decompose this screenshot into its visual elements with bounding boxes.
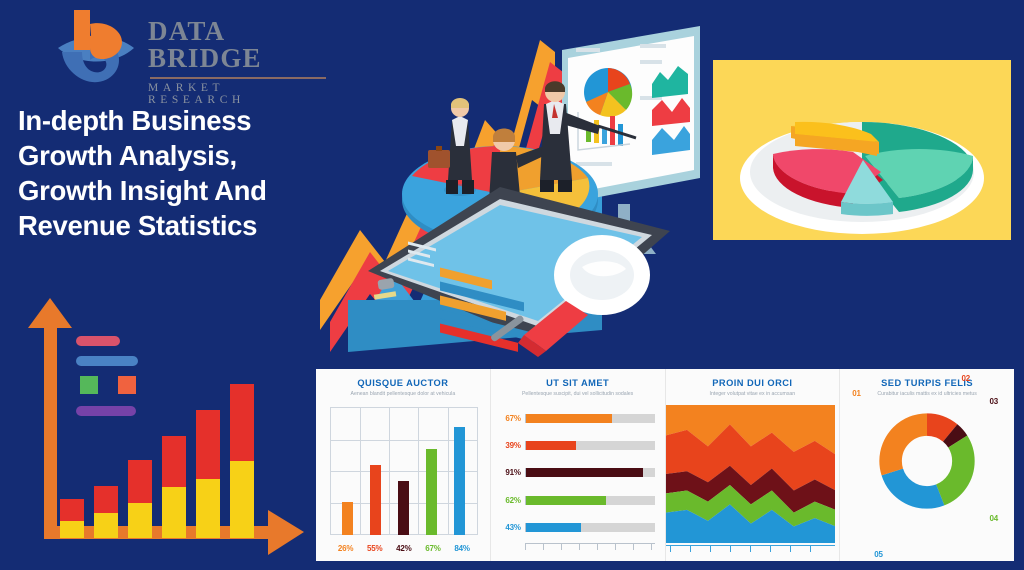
donut-chart-plot — [875, 409, 979, 513]
panel-1-subtitle: Aenean blandit pellentesque dolor at veh… — [322, 391, 484, 398]
panel-2-subtitle: Pellentesque suscipit, dui vel sollicitu… — [497, 391, 659, 398]
stacked-area-plot — [666, 405, 836, 543]
hbar-label-5: 43% — [499, 523, 525, 532]
tablet-and-magnifier — [350, 175, 690, 360]
bar-4 — [426, 449, 437, 535]
pie-chart-3d-icon — [713, 60, 1011, 240]
panel-3-title: PROIN DUI ORCI — [672, 378, 834, 389]
headline-line-4: Revenue Statistics — [18, 208, 338, 243]
donut-label-01: 01 — [852, 389, 861, 398]
brand-logo: DATA BRIDGE MARKET RESEARCH — [52, 4, 312, 88]
panel-2-title: UT SIT AMET — [497, 378, 659, 389]
bar-label-1: 26% — [338, 544, 353, 553]
bar-2 — [370, 465, 381, 535]
data-bridge-b-logo-icon — [52, 4, 138, 88]
bar-3 — [398, 481, 409, 535]
screen-pie-chart — [584, 68, 632, 117]
panel-1-chart: 26% 55% 42% 67% 84% — [316, 405, 490, 557]
panel-quisque-auctor: QUISQUE AUCTOR Aenean blandit pellentesq… — [316, 369, 490, 561]
hbar-label-1: 67% — [499, 414, 525, 423]
headline-line-3: Growth Insight And — [18, 173, 338, 208]
hbar-row-2: 39% — [499, 440, 655, 451]
panel-1-title: QUISQUE AUCTOR — [322, 378, 484, 389]
column-bars — [330, 407, 478, 535]
panel-3-subtitle: Integer volutpat vitae ex in accumsan — [672, 391, 834, 398]
hbar-row-3: 91% — [499, 467, 655, 478]
hbar-row-4: 62% — [499, 495, 655, 506]
panel-proin-dui-orci: PROIN DUI ORCI Integer volutpat vitae ex… — [665, 369, 840, 561]
page-title: In-depth Business Growth Analysis, Growt… — [18, 103, 338, 243]
horizontal-bar-plot: 67% 39% 91% 62% — [499, 405, 655, 541]
hbar-label-4: 62% — [499, 496, 525, 505]
donut-label-04: 04 — [990, 514, 999, 523]
growth-bar-chart-icon — [14, 298, 304, 566]
hbar-label-2: 39% — [499, 441, 525, 450]
bar-5 — [454, 427, 465, 535]
donut-label-02: 02 — [962, 374, 971, 383]
infographic-panel: QUISQUE AUCTOR Aenean blandit pellentesq… — [316, 369, 1014, 561]
panel-sed-turpis-felis: SED TURPIS FELIS Curabitur iaculis matti… — [839, 369, 1014, 561]
column-chart-plot — [330, 407, 478, 535]
hbar-axis — [525, 543, 655, 544]
poster-canvas: DATA BRIDGE MARKET RESEARCH In-depth Bus… — [0, 0, 1024, 570]
chart-legend — [76, 336, 138, 416]
donut-label-05: 05 — [874, 550, 883, 559]
panel-2-chart: 67% 39% 91% 62% — [491, 405, 665, 557]
column-labels: 26% 55% 42% 67% 84% — [330, 544, 478, 553]
panel-3-chart — [666, 405, 840, 557]
bar-1 — [342, 502, 353, 535]
hbar-row-1: 67% — [499, 413, 655, 424]
bar-label-3: 42% — [396, 544, 411, 553]
yellow-pie-panel — [713, 60, 1011, 240]
panel-ut-sit-amet: UT SIT AMET Pellentesque suscipit, dui v… — [490, 369, 665, 561]
panel-4-chart: 01 02 03 04 05 — [840, 369, 1014, 561]
hbar-row-5: 43% — [499, 522, 655, 533]
bar-label-4: 67% — [425, 544, 440, 553]
hbar-label-3: 91% — [499, 468, 525, 477]
bar-label-5: 84% — [454, 544, 469, 553]
bar-label-2: 55% — [367, 544, 382, 553]
donut-label-03: 03 — [990, 397, 999, 406]
headline-line-2: Growth Analysis, — [18, 138, 338, 173]
headline-line-1: In-depth Business — [18, 103, 338, 138]
